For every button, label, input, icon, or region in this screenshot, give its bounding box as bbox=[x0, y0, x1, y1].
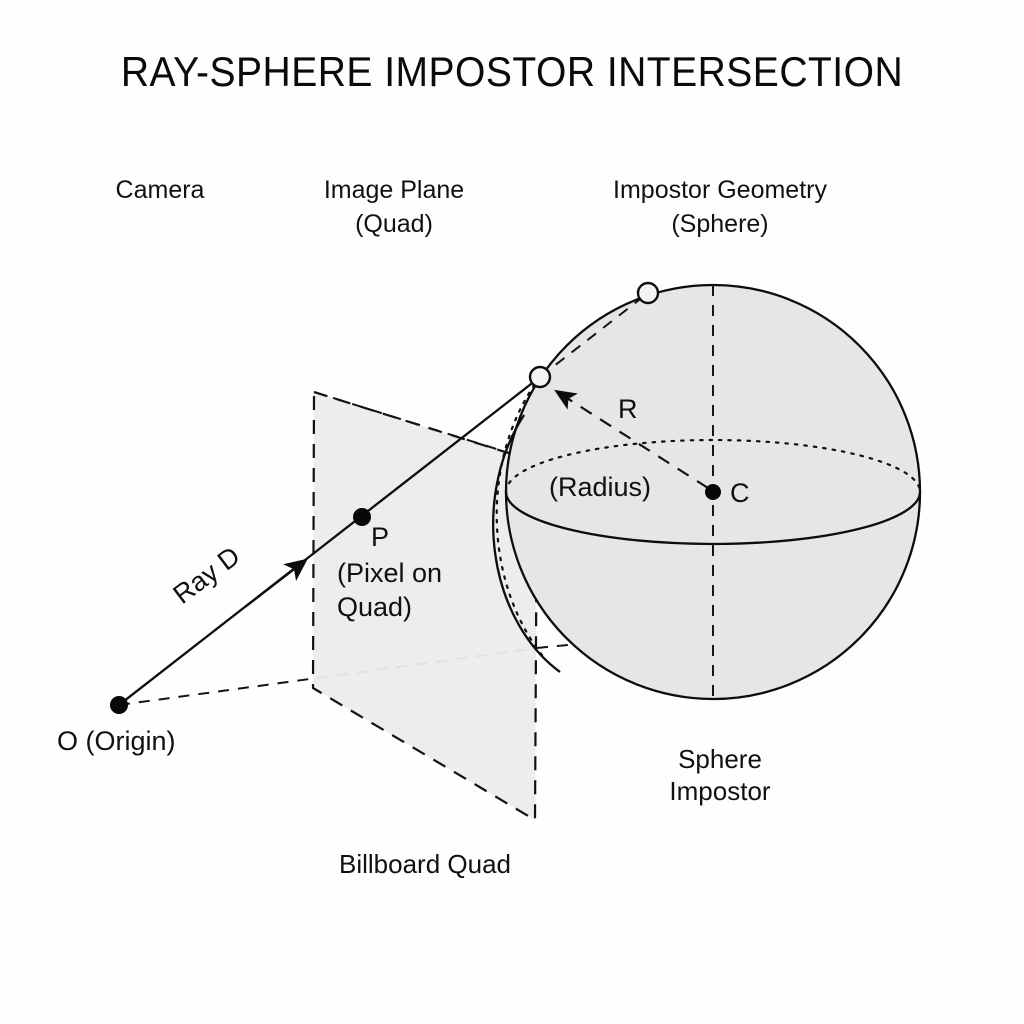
label-center-symbol: C bbox=[730, 478, 750, 508]
column-header-impostor-geometry: Impostor Geometry bbox=[613, 176, 827, 204]
caption-billboard-quad: Billboard Quad bbox=[339, 849, 511, 879]
label-radius-symbol: R bbox=[618, 394, 638, 424]
column-header-impostor-geometry-sub: (Sphere) bbox=[671, 210, 768, 238]
label-radius-word: (Radius) bbox=[549, 472, 651, 502]
ray-direction-arrow bbox=[245, 560, 306, 607]
label-pixel-symbol: P bbox=[371, 522, 389, 552]
label-origin: O (Origin) bbox=[57, 726, 176, 756]
page-title: RAY-SPHERE IMPOSTOR INTERSECTION bbox=[121, 48, 903, 96]
point-center-marker bbox=[705, 484, 721, 500]
ray-sphere-diagram: RAY-SPHERE IMPOSTOR INTERSECTION Camera … bbox=[0, 0, 1024, 1024]
label-pixel-line1: (Pixel on bbox=[337, 558, 442, 588]
point-far-intersection-marker bbox=[638, 283, 658, 303]
column-header-camera: Camera bbox=[116, 176, 205, 204]
point-pixel-marker bbox=[353, 508, 371, 526]
caption-sphere-impostor-line2: Impostor bbox=[669, 776, 770, 806]
column-header-image-plane: Image Plane bbox=[324, 176, 464, 204]
caption-sphere-impostor-line1: Sphere bbox=[678, 744, 762, 774]
column-header-image-plane-sub: (Quad) bbox=[355, 210, 433, 238]
label-ray: Ray D bbox=[168, 541, 246, 610]
label-pixel-line2: Quad) bbox=[337, 592, 412, 622]
point-near-intersection-marker bbox=[530, 367, 550, 387]
point-origin-marker bbox=[110, 696, 128, 714]
diagram-canvas: RAY-SPHERE IMPOSTOR INTERSECTION Camera … bbox=[0, 0, 1024, 1024]
